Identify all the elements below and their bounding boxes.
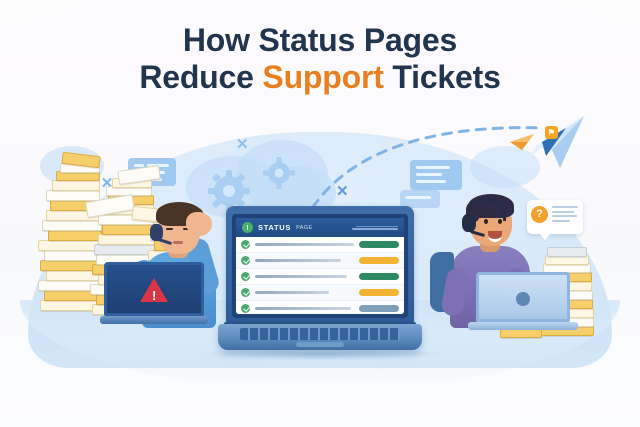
x-mark-icon: ✕ <box>236 135 249 153</box>
check-circle-icon <box>241 272 250 281</box>
service-name-placeholder <box>255 291 329 294</box>
page-title: How Status Pages Reduce Support Tickets <box>0 22 640 96</box>
table-row[interactable] <box>236 253 404 269</box>
title-line-2-suffix: Tickets <box>384 59 501 95</box>
status-page-meta <box>352 226 398 230</box>
question-chat-bubble: ? <box>527 200 583 234</box>
status-page-screen: STATUS PAGE <box>236 218 404 314</box>
table-row[interactable] <box>236 237 404 253</box>
check-circle-icon <box>241 240 250 249</box>
table-row[interactable] <box>236 301 404 314</box>
laptop-bezel: STATUS PAGE <box>232 214 408 318</box>
center-laptop: STATUS PAGE <box>218 206 422 354</box>
gear-icon <box>262 156 296 190</box>
status-page-subtitle: PAGE <box>296 225 312 231</box>
laptop-lid: STATUS PAGE <box>226 206 414 324</box>
service-name-placeholder <box>255 307 351 310</box>
status-page-title: STATUS <box>258 223 291 232</box>
title-line-1: How Status Pages <box>0 22 640 59</box>
table-row[interactable] <box>236 285 404 301</box>
clock-check-icon <box>242 222 253 233</box>
title-line-2: Reduce Support Tickets <box>0 59 640 96</box>
service-name-placeholder <box>255 243 354 246</box>
table-row[interactable] <box>236 269 404 285</box>
title-line-2-prefix: Reduce <box>139 59 262 95</box>
check-circle-icon <box>241 288 250 297</box>
status-badge <box>359 273 399 280</box>
status-row-list <box>236 237 404 314</box>
check-circle-icon <box>241 304 250 313</box>
right-agent-laptop <box>468 272 576 334</box>
laptop-trackpad <box>296 342 344 347</box>
flag-icon: ⚑ <box>545 126 558 139</box>
laptop-keyboard <box>240 328 400 340</box>
left-agent-laptop: ! <box>100 262 208 328</box>
illustration-canvas: ✕ ✕ ✕ ⚑ <box>0 0 640 427</box>
question-search-icon: ? <box>531 206 548 223</box>
paper-airplane-icon <box>506 112 586 174</box>
title-line-2-accent: Support <box>262 59 383 95</box>
status-badge <box>359 305 399 312</box>
status-badge <box>359 289 399 296</box>
check-circle-icon <box>241 256 250 265</box>
status-badge <box>359 257 399 264</box>
status-badge <box>359 241 399 248</box>
laptop-base <box>218 324 422 350</box>
status-page-header: STATUS PAGE <box>236 218 404 237</box>
chat-bubble-lines <box>552 206 578 222</box>
service-name-placeholder <box>255 275 347 278</box>
service-name-placeholder <box>255 259 341 262</box>
